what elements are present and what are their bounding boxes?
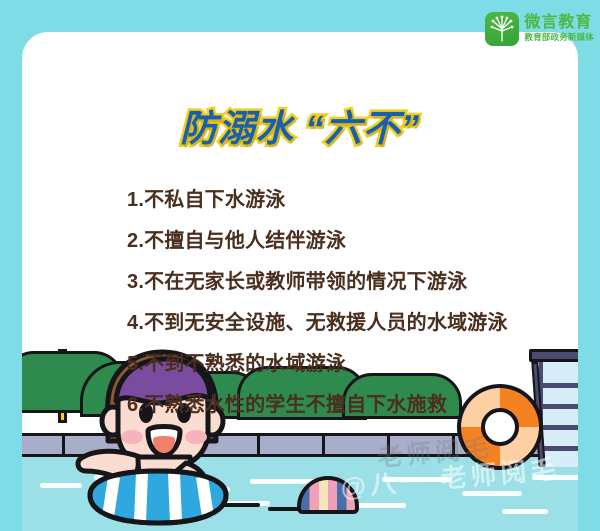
logo-text-block: 微言教育 教育部政务新媒体 xyxy=(524,12,594,43)
platform-rung xyxy=(539,404,578,409)
list-item: 1.不私自下水游泳 xyxy=(127,180,508,221)
page-title: 防溺水 “六不” xyxy=(22,98,578,152)
brand-logo: 微言教育 教育部政务新媒体 xyxy=(485,12,594,46)
platform-rung xyxy=(539,383,578,388)
rules-list: 1.不私自下水游泳 2.不擅自与他人结伴游泳 3.不在无家长或教师带领的情况下游… xyxy=(127,180,508,426)
poster-root: 防溺水 “六不” 1.不私自下水游泳 2.不擅自与他人结伴游泳 3.不在无家长或… xyxy=(0,0,600,531)
platform-rung xyxy=(539,425,578,430)
list-item: 3.不在无家长或教师带领的情况下游泳 xyxy=(127,262,508,303)
platform-top xyxy=(529,349,578,362)
list-item: 5.不到不熟悉的水域游泳 xyxy=(127,344,508,385)
logo-subtitle: 教育部政务新媒体 xyxy=(524,32,594,43)
dandelion-logo-icon xyxy=(485,12,519,46)
list-item: 2.不擅自与他人结伴游泳 xyxy=(127,221,508,262)
list-item: 6.不熟悉水性的学生不擅自下水施救 xyxy=(127,385,508,426)
content-card: 防溺水 “六不” 1.不私自下水游泳 2.不擅自与他人结伴游泳 3.不在无家长或… xyxy=(22,32,578,531)
list-item: 4.不到无安全设施、无救援人员的水域游泳 xyxy=(127,303,508,344)
platform-body xyxy=(539,362,578,467)
platform-rung xyxy=(539,446,578,451)
logo-title: 微言教育 xyxy=(524,13,594,32)
